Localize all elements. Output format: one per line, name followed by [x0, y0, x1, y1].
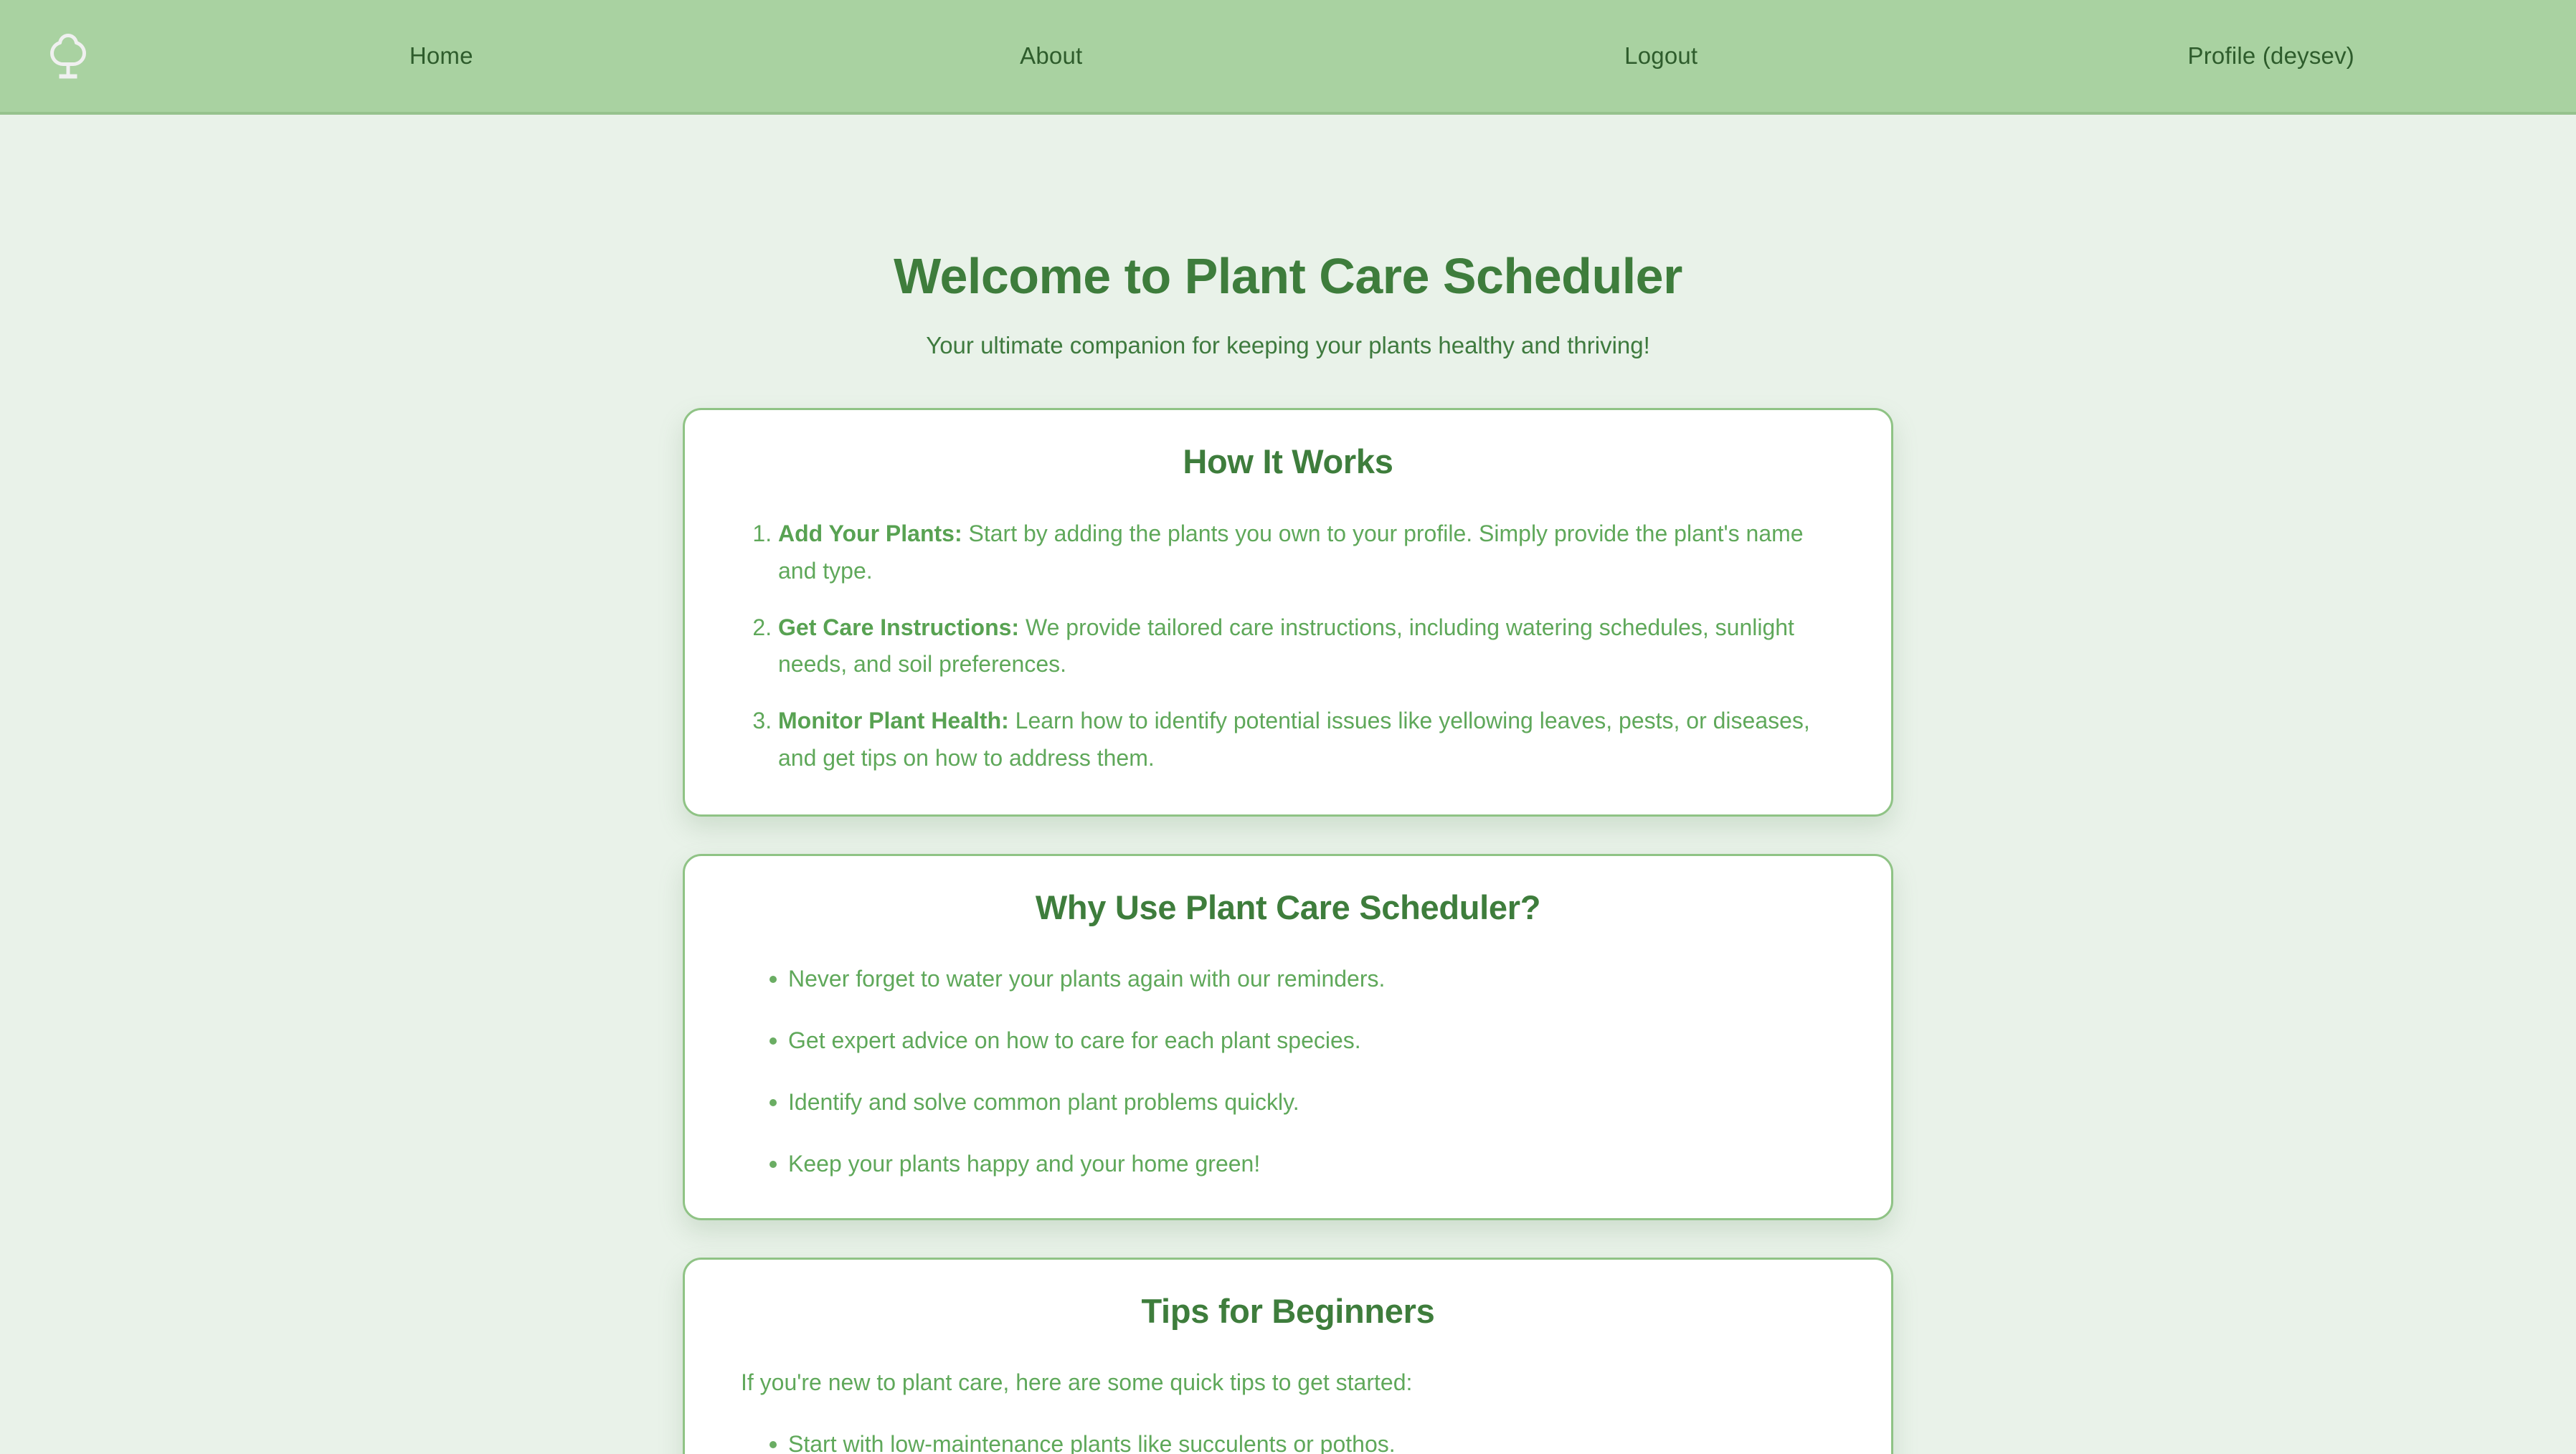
list-item: Keep your plants happy and your home gre…: [770, 1146, 1835, 1181]
cards-container: How It Works Add Your Plants: Start by a…: [683, 408, 1893, 1454]
page-title: Welcome to Plant Care Scheduler: [0, 247, 2576, 305]
nav-link-logout[interactable]: Logout: [1624, 42, 1697, 70]
why-use-bullets: Never forget to water your plants again …: [741, 961, 1835, 1181]
tips-bullets: Start with low-maintenance plants like s…: [741, 1427, 1835, 1454]
nav-link-profile[interactable]: Profile (deysev): [2188, 42, 2354, 70]
nav-item-logout[interactable]: Logout: [1356, 0, 1966, 112]
nav-item-profile[interactable]: Profile (deysev): [1966, 0, 2576, 112]
list-item: Monitor Plant Health: Learn how to ident…: [778, 703, 1835, 777]
list-item: Never forget to water your plants again …: [770, 961, 1835, 996]
page-subtitle: Your ultimate companion for keeping your…: [0, 332, 2576, 359]
nav-link-home[interactable]: Home: [409, 42, 473, 70]
list-item: Identify and solve common plant problems…: [770, 1085, 1835, 1119]
tips-lead-text: If you're new to plant care, here are so…: [741, 1365, 1835, 1400]
main-content: Welcome to Plant Care Scheduler Your ult…: [0, 247, 2576, 1454]
card-tips-for-beginners: Tips for Beginners If you're new to plan…: [683, 1258, 1893, 1454]
list-item: Add Your Plants: Start by adding the pla…: [778, 515, 1835, 590]
list-item: Start with low-maintenance plants like s…: [770, 1427, 1835, 1454]
card-title-how-it-works: How It Works: [741, 442, 1835, 481]
nav-item-about[interactable]: About: [747, 0, 1357, 112]
card-title-why-use: Why Use Plant Care Scheduler?: [741, 888, 1835, 927]
card-why-use: Why Use Plant Care Scheduler? Never forg…: [683, 854, 1893, 1220]
list-item: Get expert advice on how to care for eac…: [770, 1023, 1835, 1058]
how-it-works-steps: Add Your Plants: Start by adding the pla…: [741, 515, 1835, 777]
list-item: Get Care Instructions: We provide tailor…: [778, 609, 1835, 684]
top-navbar: Home About Logout Profile (deysev): [0, 0, 2576, 115]
card-how-it-works: How It Works Add Your Plants: Start by a…: [683, 408, 1893, 817]
nav-item-home[interactable]: Home: [136, 0, 747, 112]
nav-links: Home About Logout Profile (deysev): [136, 0, 2576, 112]
card-title-tips: Tips for Beginners: [741, 1291, 1835, 1331]
nav-link-about[interactable]: About: [1020, 42, 1082, 70]
brand-logo[interactable]: [0, 32, 136, 80]
step-label: Get Care Instructions:: [778, 614, 1019, 640]
tree-icon: [46, 32, 90, 80]
step-label: Add Your Plants:: [778, 521, 962, 546]
step-label: Monitor Plant Health:: [778, 708, 1009, 733]
